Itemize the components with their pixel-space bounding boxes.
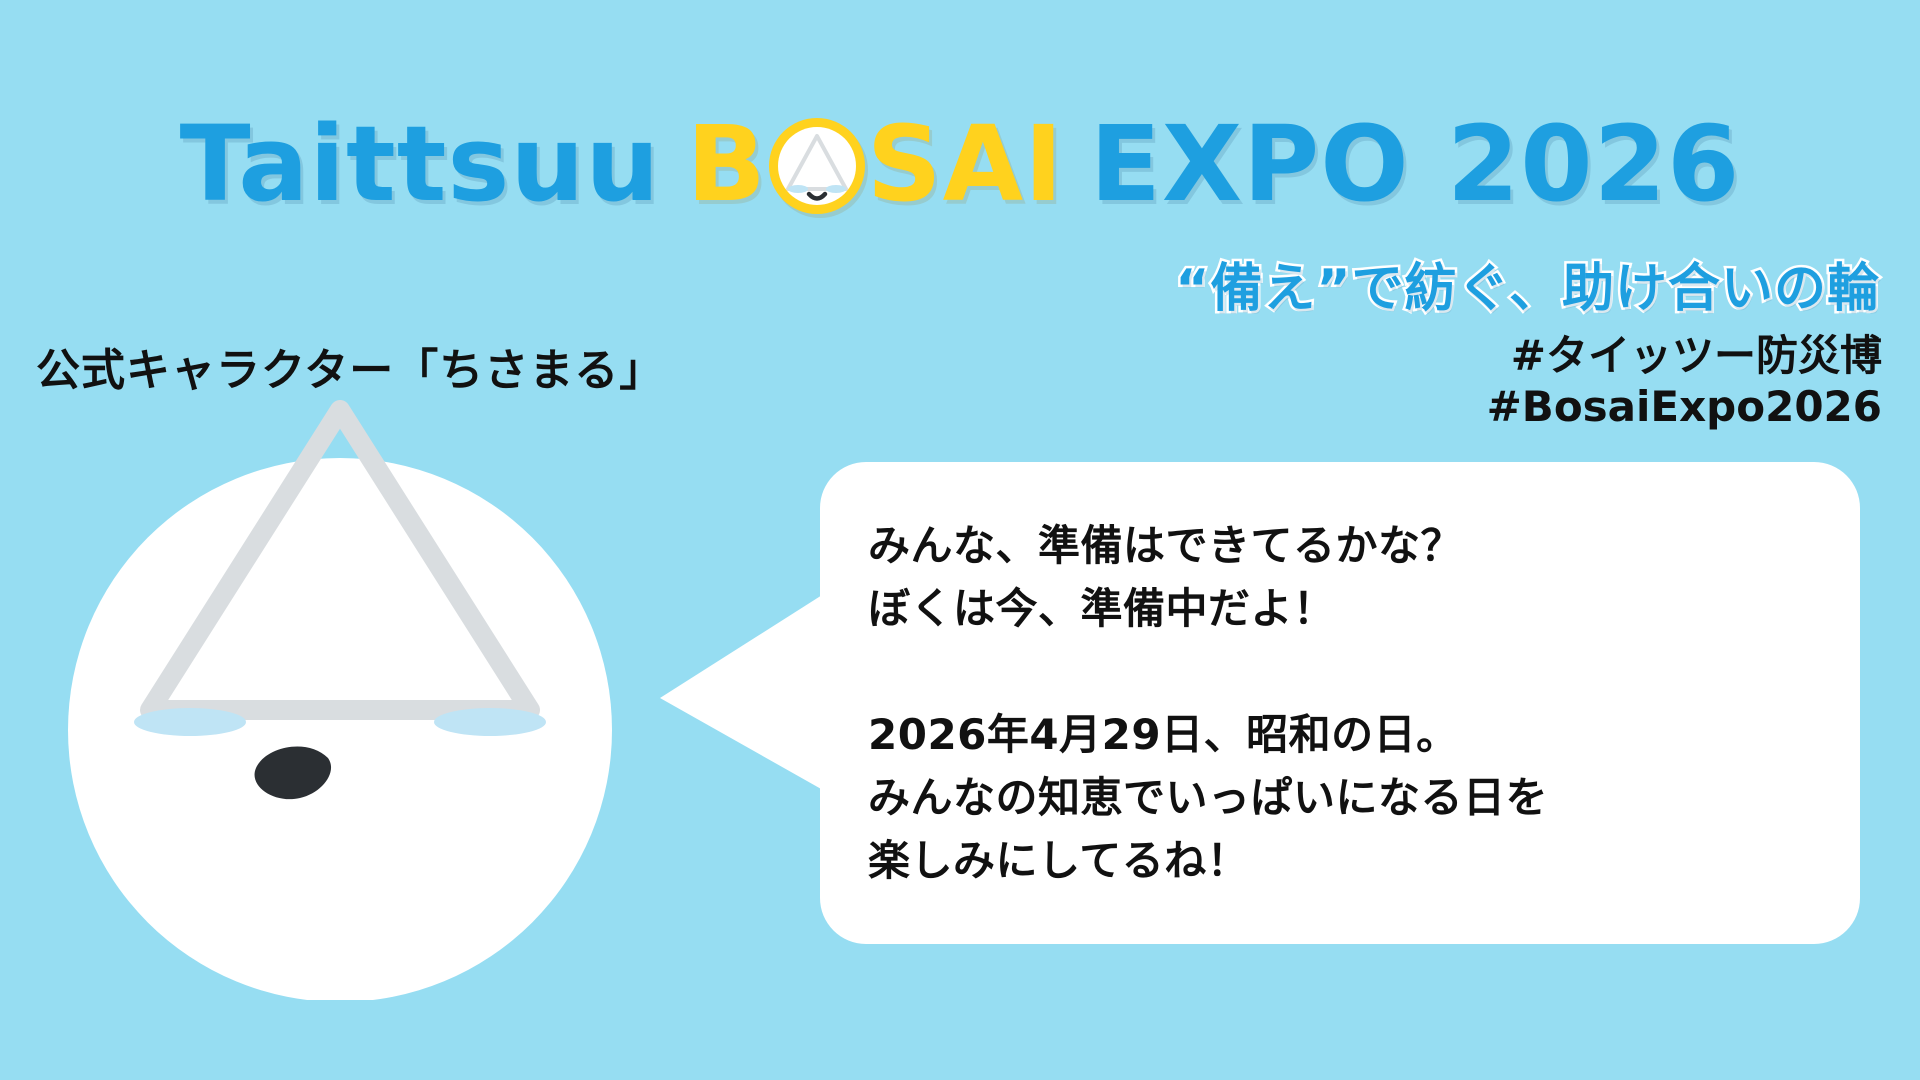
speech-bubble-text: みんな、準備はできてるかな？ ぼくは今、準備中だよ！ 2026年4月29日、昭和… <box>868 514 1830 892</box>
event-subtitle: “備え”で紡ぐ、助け合いの輪 <box>1175 246 1880 321</box>
mascot-cheek-right-icon <box>434 708 546 736</box>
logo-cheek-right-icon <box>826 185 846 193</box>
speech-bubble: みんな、準備はできてるかな？ ぼくは今、準備中だよ！ 2026年4月29日、昭和… <box>820 462 1860 944</box>
title-letter-b: B <box>686 103 766 225</box>
logo-cheek-left-icon <box>788 185 808 193</box>
logo-triangle-icon <box>788 136 846 189</box>
chisamaru-mascot <box>60 400 620 1000</box>
title-expo-year: EXPO 2026 <box>1090 103 1741 225</box>
logo-smile-icon <box>809 194 825 199</box>
event-title: TaittsuuBSAIEXPO 2026 <box>0 112 1920 216</box>
logo-o-face <box>778 127 856 205</box>
hashtag-block: #タイッツー防災博 #BosaiExpo2026 <box>1487 330 1882 432</box>
character-caption: 公式キャラクター「ちさまる」 <box>36 334 664 398</box>
hashtag-line-2: #BosaiExpo2026 <box>1487 381 1882 432</box>
mascot-art <box>60 400 620 1000</box>
hashtag-line-1: #タイッツー防災博 <box>1487 330 1882 381</box>
title-taittsuu: Taittsuu <box>180 103 661 225</box>
poster-canvas: TaittsuuBSAIEXPO 2026 “備え”で紡ぐ、助け合いの輪 公式キ… <box>0 0 1920 1080</box>
mascot-cheek-left-icon <box>134 708 246 736</box>
mascot-face-icon <box>769 118 865 214</box>
title-sai: SAI <box>867 103 1064 225</box>
speech-bubble-tail <box>660 582 830 802</box>
logo-o-face-art <box>778 127 856 205</box>
